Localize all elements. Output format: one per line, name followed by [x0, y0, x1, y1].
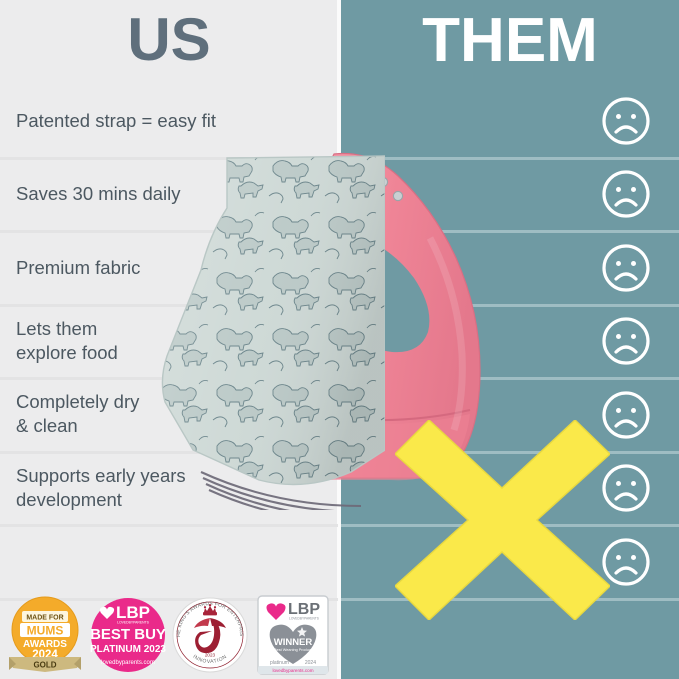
yellow-cross-icon [395, 420, 610, 620]
badge2-brand: LBP [116, 603, 150, 622]
feature-label-line: Supports early years [16, 464, 316, 488]
kings-awards-for-enterprise-innovation-badge: THE KING'S AWARDS FOR ENTERPRISE 2023 [171, 594, 249, 676]
sad-face-icon [600, 242, 652, 294]
badge4-year: 2024 [305, 660, 316, 666]
us-column-title: US [0, 10, 338, 70]
feature-label-line: Lets them [16, 317, 316, 341]
feature-label: Patented strap = easy fit [16, 109, 316, 133]
badge4-tier: platinum [270, 660, 289, 666]
feature-label: Premium fabric [16, 256, 316, 280]
lbp-best-buy-platinum-badge: LBP LOVEDBYPARENTS BEST BUY PLATINUM 202… [89, 594, 167, 676]
sad-face-icon [600, 95, 652, 147]
feature-label-line: Patented strap = easy fit [16, 109, 316, 133]
badge4-brand: LBP [288, 601, 320, 618]
badge4-line2: Best Weaning Product [274, 648, 313, 652]
badge1-ribbon: GOLD [33, 661, 56, 670]
feature-label-line: Saves 30 mins daily [16, 182, 316, 206]
feature-label-line: Completely dry [16, 390, 316, 414]
them-column-title: THEM [341, 10, 679, 72]
badge2-site: lovedbyparents.com [101, 660, 155, 666]
badge1-line1: MADE FOR [26, 614, 63, 621]
feature-label: Saves 30 mins daily [16, 182, 316, 206]
sad-face-icon [600, 462, 652, 514]
feature-label-line: Premium fabric [16, 256, 316, 280]
comparison-infographic: US THEM [0, 0, 679, 679]
sad-face-icon [600, 389, 652, 441]
sad-face-icon [600, 536, 652, 588]
sad-face-icon [600, 168, 652, 220]
feature-label-line: development [16, 488, 316, 512]
badge2-line2: PLATINUM 2023 [90, 644, 166, 655]
row-divider-left [0, 524, 338, 527]
badge4-site: lovedbyparents.com [272, 668, 313, 673]
award-badges-row: MADE FOR MUMS AWARDS 2024 GOLD LBP LOVED… [0, 592, 338, 678]
feature-label: Completely dry& clean [16, 390, 316, 439]
sad-face-icon [600, 315, 652, 367]
badge2-brand-sub: LOVEDBYPARENTS [117, 621, 150, 625]
feature-label: Lets themexplore food [16, 317, 316, 366]
badge1-line2: MUMS [27, 624, 64, 638]
feature-label-line: explore food [16, 341, 316, 365]
feature-label-line: & clean [16, 414, 316, 438]
badge2-line1: BEST BUY [90, 626, 166, 643]
lbp-winner-platinum-2024-badge: LBP LOVEDBYPARENTS WINNER Best Weaning P… [254, 594, 332, 676]
made-for-mums-gold-award-badge: MADE FOR MUMS AWARDS 2024 GOLD [6, 594, 84, 676]
badge4-brand-sub: LOVEDBYPARENTS [289, 617, 319, 621]
feature-label: Supports early yearsdevelopment [16, 464, 316, 513]
badge3-year: 2023 [205, 653, 216, 658]
badge4-line1: WINNER [274, 637, 313, 648]
